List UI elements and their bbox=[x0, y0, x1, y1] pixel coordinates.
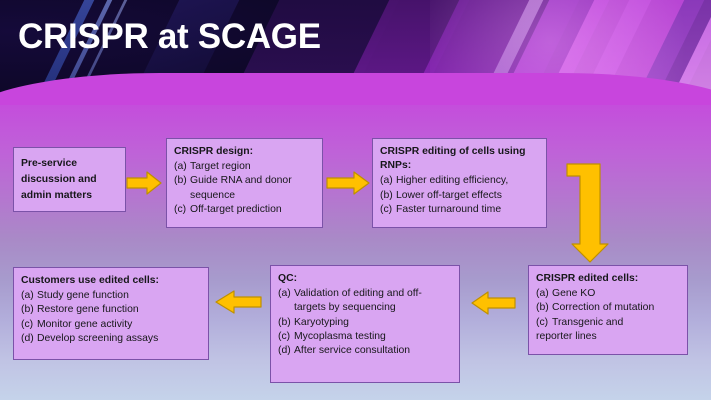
list-item: (d) Develop screening assays bbox=[21, 332, 201, 346]
pre-service-line-1: Pre-service bbox=[21, 156, 118, 172]
marker: (b) bbox=[21, 303, 37, 317]
item-text: Faster turnaround time bbox=[396, 203, 539, 217]
item-text: Study gene function bbox=[37, 289, 201, 303]
banner-streak-4 bbox=[516, 0, 711, 105]
list-item: (b) Karyotyping bbox=[278, 316, 452, 330]
list-item: (a) Higher editing efficiency, bbox=[380, 174, 539, 188]
banner-streak-6 bbox=[641, 0, 711, 105]
list-item: (b) Correction of mutation bbox=[536, 301, 680, 315]
page-title: CRISPR at SCAGE bbox=[18, 19, 321, 54]
item-text: Validation of editing and off-targets by… bbox=[294, 287, 452, 315]
banner-streak-7 bbox=[551, 0, 671, 105]
item-text: Higher editing efficiency, bbox=[396, 174, 539, 188]
banner-streak-1 bbox=[311, 0, 489, 105]
list-item: (d) After service consultation bbox=[278, 344, 452, 358]
marker: (b) bbox=[380, 189, 396, 203]
list-item: (c) Monitor gene activity bbox=[21, 318, 201, 332]
banner-streak-8 bbox=[451, 0, 563, 105]
marker: (a) bbox=[536, 287, 552, 301]
marker: (a) bbox=[21, 289, 37, 303]
banner-streak-5 bbox=[606, 0, 711, 105]
list-item: (c) Faster turnaround time bbox=[380, 203, 539, 217]
list-item: (c) Mycoplasma testing bbox=[278, 330, 452, 344]
arrow-edited-cells-to-qc bbox=[470, 290, 516, 316]
marker: (a) bbox=[278, 287, 294, 315]
item-text: Guide RNA and donor sequence bbox=[190, 174, 315, 202]
list-item: (b) Guide RNA and donor sequence bbox=[174, 174, 315, 202]
box-customers: Customers use edited cells: (a) Study ge… bbox=[13, 267, 209, 360]
box-crispr-editing: CRISPR editing of cells using RNPs: (a) … bbox=[372, 138, 547, 228]
qc-heading: QC: bbox=[278, 272, 452, 286]
banner-glow bbox=[430, 0, 711, 105]
pre-service-line-3: admin matters bbox=[21, 188, 118, 204]
marker: (b) bbox=[174, 174, 190, 202]
item-text: Off-target prediction bbox=[190, 203, 315, 217]
list-item: (a) Validation of editing and off-target… bbox=[278, 287, 452, 315]
box-crispr-edited-cells: CRISPR edited cells: (a) Gene KO (b) Cor… bbox=[528, 265, 688, 355]
item-text: Gene KO bbox=[552, 287, 680, 301]
list-item: (a) Gene KO bbox=[536, 287, 680, 301]
arrow-editing-to-edited-cells bbox=[566, 158, 614, 264]
crispr-editing-heading: CRISPR editing of cells using RNPs: bbox=[380, 145, 539, 173]
item-text: Develop screening assays bbox=[37, 332, 201, 346]
slide-canvas: CRISPR at SCAGE Pre-service discussion a… bbox=[0, 0, 711, 400]
item-text: Karyotyping bbox=[294, 316, 452, 330]
marker: (a) bbox=[380, 174, 396, 188]
box-pre-service: Pre-service discussion and admin matters bbox=[13, 147, 126, 212]
marker: (d) bbox=[278, 344, 294, 358]
customers-heading: Customers use edited cells: bbox=[21, 274, 201, 288]
list-item: (a) Target region bbox=[174, 160, 315, 174]
list-item: (b) Lower off-target effects bbox=[380, 189, 539, 203]
marker: (a) bbox=[174, 160, 190, 174]
box-qc: QC: (a) Validation of editing and off-ta… bbox=[270, 265, 460, 383]
arrow-qc-to-customers bbox=[214, 289, 262, 315]
item-text: Monitor gene activity bbox=[37, 318, 201, 332]
marker: (c) bbox=[536, 316, 552, 330]
item-text: Target region bbox=[190, 160, 315, 174]
marker: (c) bbox=[278, 330, 294, 344]
edited-cells-heading: CRISPR edited cells: bbox=[536, 272, 680, 286]
banner-streak-2 bbox=[381, 0, 599, 105]
box-crispr-design: CRISPR design: (a) Target region (b) Gui… bbox=[166, 138, 323, 228]
list-item: (a) Study gene function bbox=[21, 289, 201, 303]
item-text: Correction of mutation bbox=[552, 301, 680, 315]
marker: (c) bbox=[380, 203, 396, 217]
item-text: Lower off-target effects bbox=[396, 189, 539, 203]
arrow-pre-to-design bbox=[126, 170, 162, 196]
item-text: Restore gene function bbox=[37, 303, 201, 317]
list-item: (c) Transgenic and bbox=[536, 316, 680, 330]
list-item: (c) Off-target prediction bbox=[174, 203, 315, 217]
item-continuation: reporter lines bbox=[536, 330, 680, 344]
marker: (c) bbox=[174, 203, 190, 217]
marker: (b) bbox=[536, 301, 552, 315]
list-item: (b) Restore gene function bbox=[21, 303, 201, 317]
marker: (b) bbox=[278, 316, 294, 330]
marker: (c) bbox=[21, 318, 37, 332]
pre-service-line-2: discussion and bbox=[21, 172, 118, 188]
item-text: Mycoplasma testing bbox=[294, 330, 452, 344]
arrow-design-to-editing bbox=[326, 170, 370, 196]
item-text: Transgenic and bbox=[552, 316, 680, 330]
banner-streak-3 bbox=[471, 0, 629, 105]
crispr-design-heading: CRISPR design: bbox=[174, 145, 315, 159]
marker: (d) bbox=[21, 332, 37, 346]
item-text: After service consultation bbox=[294, 344, 452, 358]
